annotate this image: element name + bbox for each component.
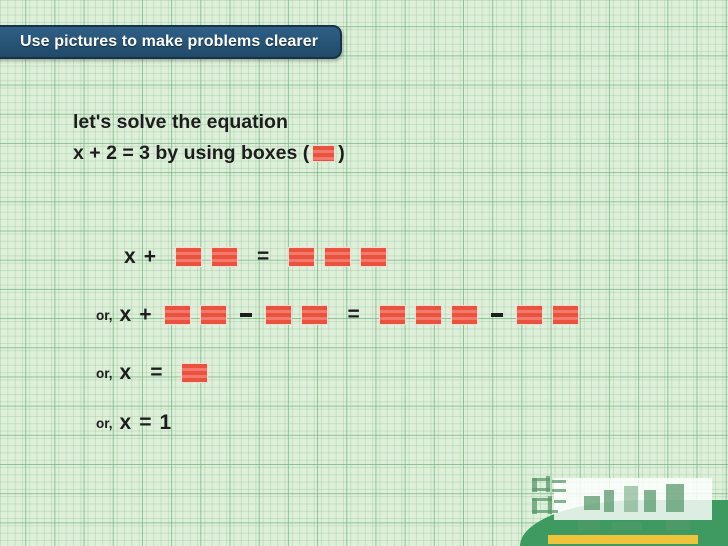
row-1-variable: x — [124, 245, 136, 269]
row-2-minus-operator-left — [240, 313, 252, 317]
row-3-variable: x — [120, 361, 132, 385]
row-4-or-prefix: or, — [96, 416, 113, 431]
watermark-yellow-stripe — [548, 535, 698, 544]
row-2-equals-operator: = — [347, 303, 359, 327]
row-3-or-prefix: or, — [96, 366, 113, 381]
intro-line-1: let's solve the equation — [73, 107, 345, 138]
intro-line-2-prefix: x + 2 = 3 by using boxes ( — [73, 138, 309, 169]
row-1-equals-operator: = — [257, 245, 269, 269]
red-box-glyph — [552, 305, 579, 325]
red-box-glyph — [324, 247, 351, 267]
row-4-variable: x — [120, 411, 132, 435]
slide-canvas: Use pictures to make problems clearer le… — [0, 0, 728, 546]
equation-row-1: x + = — [124, 245, 387, 269]
red-box-glyph — [211, 247, 238, 267]
row-3-equals-operator: = — [150, 361, 162, 385]
red-box-glyph — [265, 305, 292, 325]
red-box-glyph — [451, 305, 478, 325]
intro-line-2-suffix: ) — [338, 138, 345, 169]
red-box-glyph — [360, 247, 387, 267]
red-box-glyph — [288, 247, 315, 267]
red-box-glyph — [181, 363, 208, 383]
red-box-glyph — [164, 305, 191, 325]
equation-row-3: or, x = — [96, 361, 208, 385]
equation-row-2: or, x + = — [96, 303, 579, 327]
red-box-glyph — [516, 305, 543, 325]
intro-text-block: let's solve the equation x + 2 = 3 by us… — [73, 107, 345, 169]
row-4-result-value: 1 — [159, 411, 171, 435]
red-box-glyph-legend — [312, 145, 335, 162]
red-box-glyph — [379, 305, 406, 325]
row-4-equals-operator: = — [139, 411, 151, 435]
watermark-logo — [520, 460, 728, 546]
red-box-glyph — [415, 305, 442, 325]
row-2-plus-operator: + — [139, 303, 151, 327]
watermark-wave-shape — [520, 500, 728, 546]
grid-paper-minor-lines — [0, 0, 728, 546]
equation-row-4: or, x = 1 — [96, 411, 171, 435]
red-box-glyph — [175, 247, 202, 267]
intro-line-1-text: let's solve the equation — [73, 107, 288, 138]
intro-line-2: x + 2 = 3 by using boxes ( ) — [73, 138, 345, 169]
grid-paper-major-lines — [0, 0, 728, 546]
red-box-glyph — [200, 305, 227, 325]
title-banner-label: Use pictures to make problems clearer — [20, 33, 318, 51]
row-1-plus-operator: + — [144, 245, 156, 269]
row-2-minus-operator-right — [491, 313, 503, 317]
row-2-or-prefix: or, — [96, 308, 113, 323]
red-box-glyph — [301, 305, 328, 325]
watermark-glyph-mark — [532, 476, 568, 518]
row-2-variable: x — [120, 303, 132, 327]
title-banner: Use pictures to make problems clearer — [0, 25, 342, 59]
watermark-white-panel — [554, 478, 712, 520]
